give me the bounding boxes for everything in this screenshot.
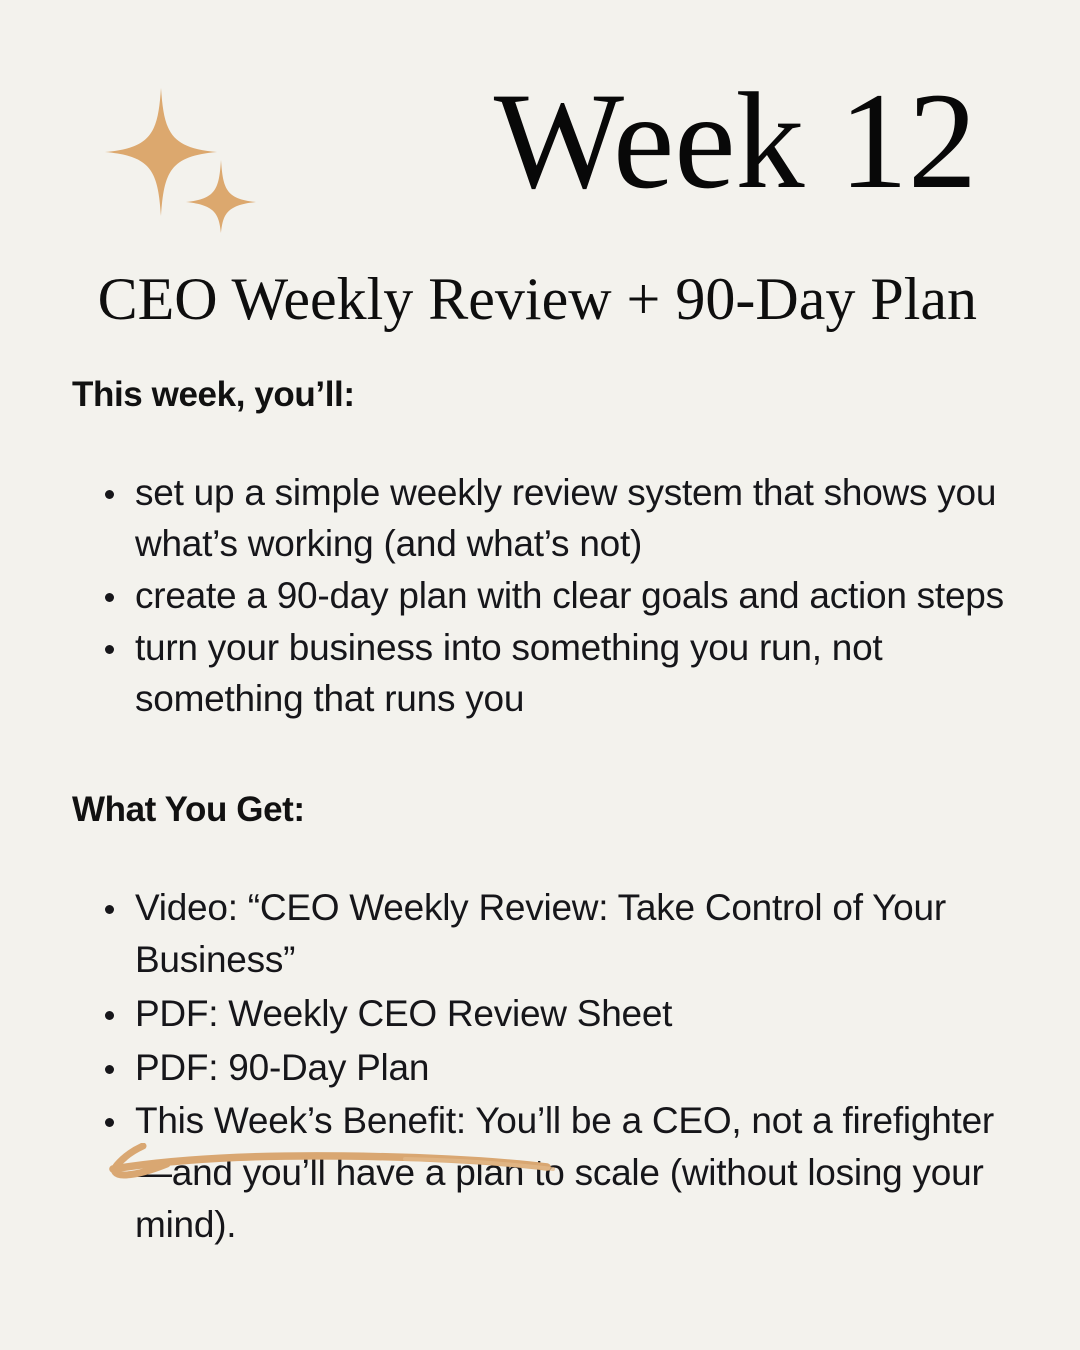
page-title: Week 12: [494, 72, 977, 210]
list-item: set up a simple weekly review system tha…: [72, 467, 1012, 569]
list-item: turn your business into something you ru…: [72, 622, 1012, 724]
sparkle-stars-icon: [104, 88, 274, 233]
slide-canvas: Week 12 CEO Weekly Review + 90-Day Plan …: [0, 0, 1080, 1350]
this-week-list: set up a simple weekly review system tha…: [72, 467, 1012, 724]
list-item-benefit: This Week’s Benefit: You’ll be a CEO, no…: [72, 1095, 1012, 1250]
list-item: PDF: 90-Day Plan: [72, 1042, 1012, 1094]
section-heading-this-week: This week, you’ll:: [72, 375, 1012, 415]
list-item: create a 90-day plan with clear goals an…: [72, 570, 1012, 621]
what-you-get-list: Video: “CEO Weekly Review: Take Control …: [72, 882, 1012, 1251]
list-item: Video: “CEO Weekly Review: Take Control …: [72, 882, 1012, 986]
header-region: Week 12 CEO Weekly Review + 90-Day Plan: [0, 0, 1080, 350]
section-heading-what-you-get: What You Get:: [72, 790, 1012, 830]
body-content: This week, you’ll: set up a simple weekl…: [72, 375, 1012, 1253]
page-subtitle: CEO Weekly Review + 90-Day Plan: [70, 268, 977, 332]
list-item: PDF: Weekly CEO Review Sheet: [72, 988, 1012, 1040]
